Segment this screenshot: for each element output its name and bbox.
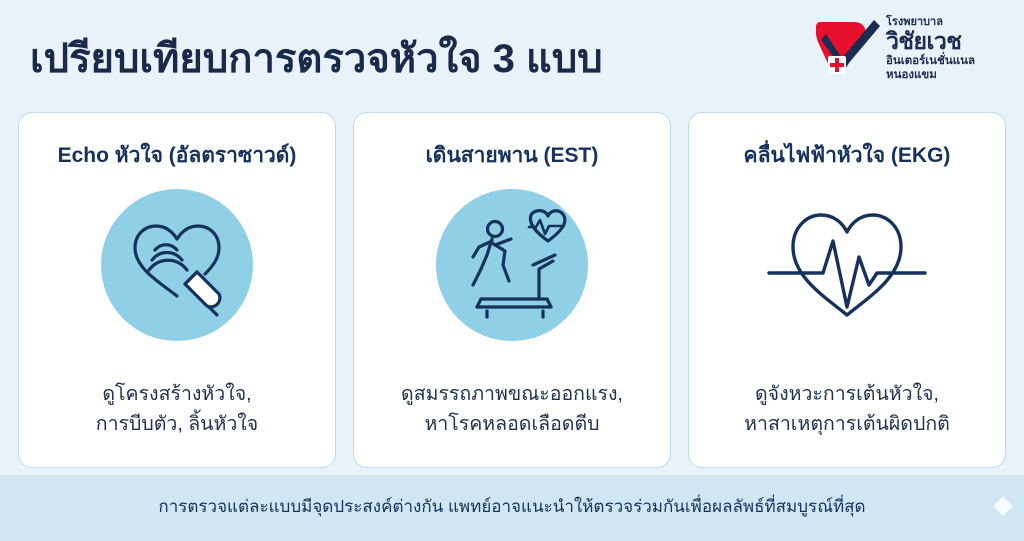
card-ekg-icon-circle	[771, 189, 923, 341]
card-ekg-description: ดูจังหวะการเต้นหัวใจ, หาสาเหตุการเต้นผิด…	[689, 379, 1005, 439]
logo-line-3: อินเตอร์เนชั่นแนล	[886, 54, 1008, 68]
card-est[interactable]: เดินสายพาน (EST)	[353, 112, 671, 468]
logo-mark-icon	[816, 18, 882, 80]
header: เปรียบเทียบการตรวจหัวใจ 3 แบบ โรงพยาบาล …	[0, 0, 1024, 108]
footer-note-band: การตรวจแต่ละแบบมีจุดประสงค์ต่างกัน แพทย์…	[0, 475, 1024, 541]
card-est-desc-line-2: หาโรคหลอดเลือดตีบ	[354, 409, 670, 439]
heart-ultrasound-probe-icon	[119, 210, 235, 320]
heart-ecg-waveform-icon	[763, 195, 931, 335]
card-ekg-title: คลื่นไฟฟ้าหัวใจ (EKG)	[689, 139, 1005, 172]
comparison-cards: Echo หัวใจ (อัลตราซาวด์)	[18, 112, 1006, 470]
card-ekg[interactable]: คลื่นไฟฟ้าหัวใจ (EKG) ดูจังหวะการเต้นหัว…	[688, 112, 1006, 468]
card-ekg-desc-line-2: หาสาเหตุการเต้นผิดปกติ	[689, 409, 1005, 439]
footer-note-text: การตรวจแต่ละแบบมีจุดประสงค์ต่างกัน แพทย์…	[0, 493, 1024, 520]
logo-text-block: โรงพยาบาล วิชัยเวช อินเตอร์เนชั่นแนล หนอ…	[886, 16, 1008, 82]
card-est-description: ดูสมรรถภาพขณะออกแรง, หาโรคหลอดเลือดตีบ	[354, 379, 670, 439]
card-echo-title: Echo หัวใจ (อัลตราซาวด์)	[19, 139, 335, 172]
card-est-icon-circle	[436, 189, 588, 341]
logo-line-2: วิชัยเวช	[886, 29, 1008, 54]
card-est-desc-line-1: ดูสมรรถภาพขณะออกแรง,	[354, 379, 670, 409]
card-ekg-desc-line-1: ดูจังหวะการเต้นหัวใจ,	[689, 379, 1005, 409]
infographic-root: เปรียบเทียบการตรวจหัวใจ 3 แบบ โรงพยาบาล …	[0, 0, 1024, 541]
card-est-title: เดินสายพาน (EST)	[354, 139, 670, 172]
treadmill-runner-heartbeat-icon	[451, 207, 573, 323]
card-echo-desc-line-1: ดูโครงสร้างหัวใจ,	[19, 379, 335, 409]
page-title: เปรียบเทียบการตรวจหัวใจ 3 แบบ	[30, 26, 603, 90]
card-echo-description: ดูโครงสร้างหัวใจ, การบีบตัว, ลิ้นหัวใจ	[19, 379, 335, 439]
card-echo-desc-line-2: การบีบตัว, ลิ้นหัวใจ	[19, 409, 335, 439]
vichaivej-hospital-logo: โรงพยาบาล วิชัยเวช อินเตอร์เนชั่นแนล หนอ…	[816, 14, 1006, 98]
logo-line-4: หนองแขม	[886, 68, 1008, 82]
card-echo-icon-circle	[101, 189, 253, 341]
card-echo[interactable]: Echo หัวใจ (อัลตราซาวด์)	[18, 112, 336, 468]
